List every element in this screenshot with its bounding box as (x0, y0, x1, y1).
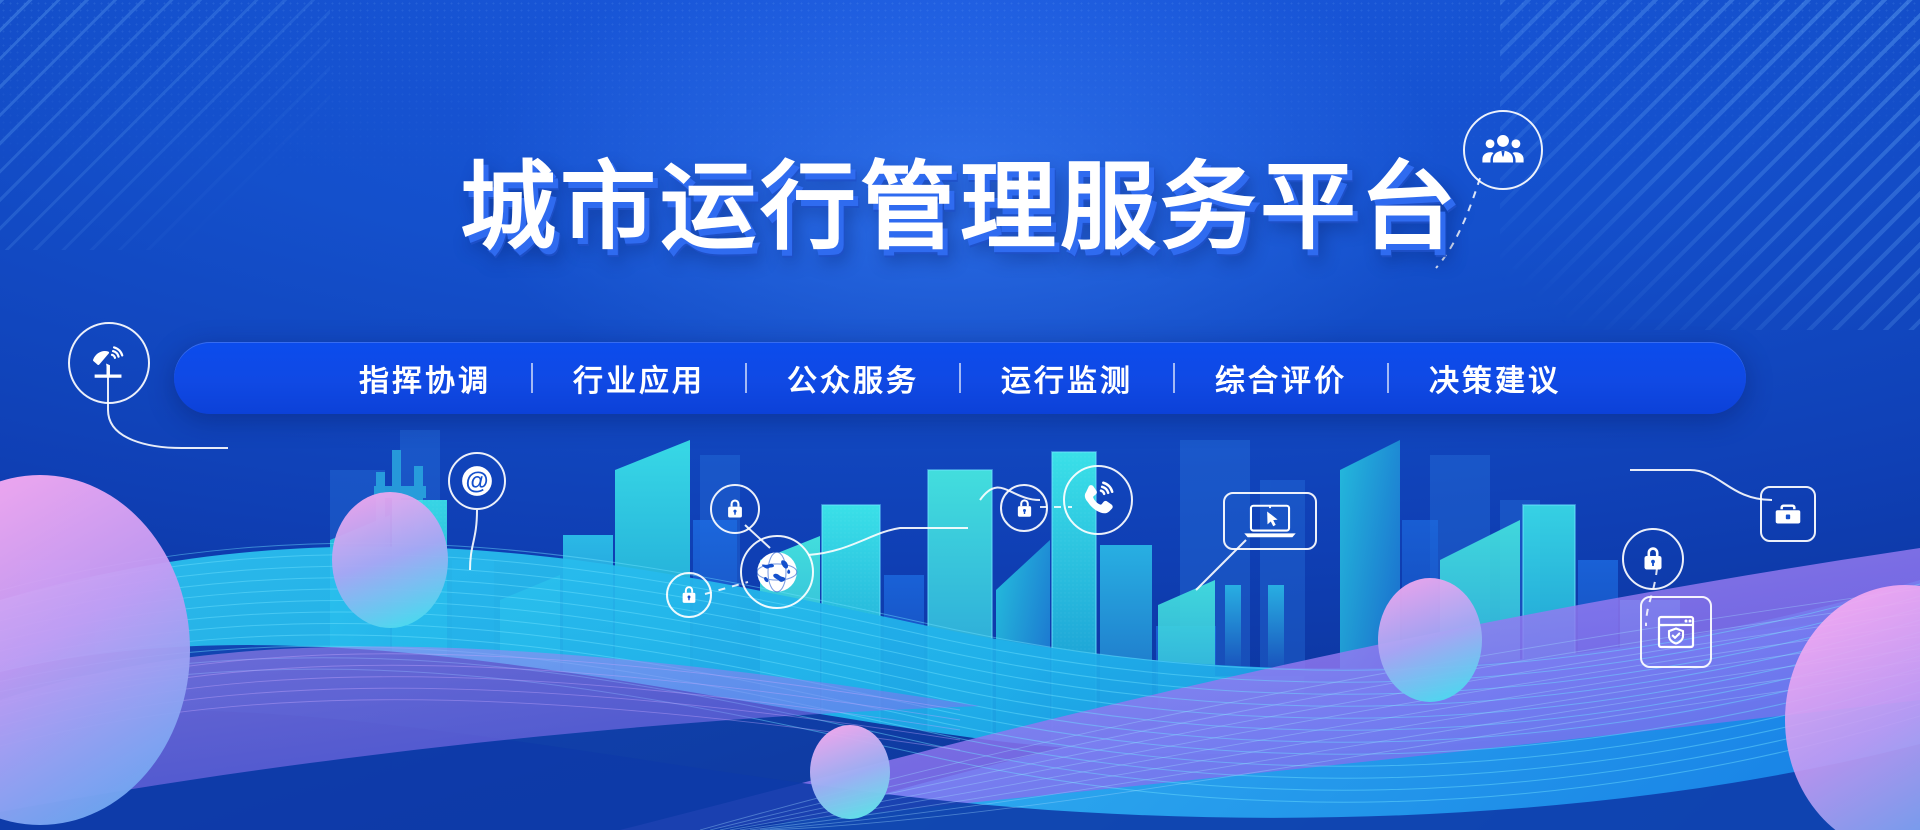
at-sign-icon: @ (456, 460, 498, 502)
nav-item-industry-application[interactable]: 行业应用 (533, 356, 745, 400)
lock-badge-1 (710, 484, 760, 534)
page-title: 城市运行管理服务平台 (460, 160, 1460, 256)
satellite-dish-badge (68, 322, 150, 404)
globe-icon (750, 545, 804, 599)
phone-signal-badge (1063, 465, 1133, 535)
city-illustration (0, 0, 1920, 830)
banner-title-wrap: 城市运行管理服务平台 (0, 160, 1920, 256)
browser-shield-icon (1652, 608, 1700, 656)
lock-badge-2 (666, 572, 712, 618)
at-sign-badge: @ (448, 452, 506, 510)
nav-item-decision-suggestion[interactable]: 决策建议 (1389, 356, 1601, 400)
laptop-cursor-badge (1223, 492, 1317, 550)
lock-icon (677, 583, 701, 607)
nav-item-command-coordination[interactable]: 指挥协调 (319, 356, 531, 400)
main-navigation[interactable]: 指挥协调 行业应用 公众服务 运行监测 综合评价 决策建议 (174, 342, 1746, 414)
people-group-icon (1480, 127, 1526, 173)
briefcase-badge (1760, 486, 1816, 542)
nav-item-operation-monitoring[interactable]: 运行监测 (961, 356, 1173, 400)
people-group-badge (1463, 110, 1543, 190)
lock-icon (1637, 543, 1669, 575)
svg-text:@: @ (465, 469, 488, 495)
lock-icon (1012, 496, 1037, 521)
lock-icon (722, 496, 748, 522)
satellite-dish-icon (86, 340, 132, 386)
city-platform-banner: 城市运行管理服务平台 指挥协调 行业应用 公众服务 运行监测 综合评价 决策建议 (0, 0, 1920, 830)
lock-badge-4 (1622, 528, 1684, 590)
nav-item-public-service[interactable]: 公众服务 (747, 356, 959, 400)
globe-badge (740, 535, 814, 609)
laptop-cursor-icon (1239, 501, 1301, 541)
nav-item-comprehensive-evaluation[interactable]: 综合评价 (1175, 356, 1387, 400)
phone-signal-icon (1075, 477, 1121, 523)
lock-badge-3 (1000, 484, 1048, 532)
briefcase-icon (1771, 497, 1805, 531)
browser-shield-badge (1640, 596, 1712, 668)
